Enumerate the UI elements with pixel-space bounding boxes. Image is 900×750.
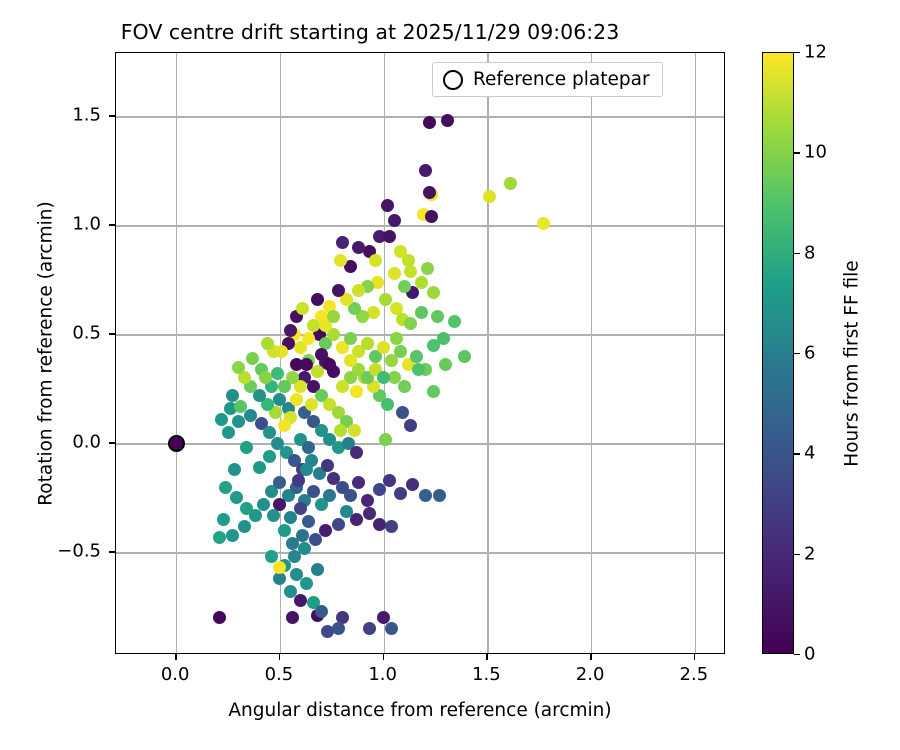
scatter-point <box>363 507 376 520</box>
scatter-point <box>257 498 270 511</box>
scatter-point <box>344 489 357 502</box>
colorbar-tick-6 <box>794 52 800 53</box>
scatter-point <box>334 254 347 267</box>
legend: Reference platepar <box>432 62 663 97</box>
scatter-point <box>352 284 365 297</box>
scatter-point <box>344 354 357 367</box>
scatter-point <box>415 306 428 319</box>
scatter-point <box>294 502 307 515</box>
scatter-point <box>311 293 324 306</box>
x-tick-5 <box>694 654 695 660</box>
scatter-point <box>363 622 376 635</box>
scatter-point <box>263 450 276 463</box>
y-tick-4 <box>109 115 115 116</box>
colorbar-tick-label-0: 0 <box>804 644 815 665</box>
scatter-point <box>292 474 305 487</box>
scatter-point <box>230 491 243 504</box>
scatter-point <box>404 317 417 330</box>
colorbar-tick-label-3: 6 <box>804 343 815 364</box>
scatter-point <box>377 371 390 384</box>
scatter-point <box>290 393 303 406</box>
legend-label: Reference platepar <box>473 69 650 90</box>
scatter-point <box>410 350 423 363</box>
scatter-point <box>431 310 444 323</box>
scatter-point <box>390 332 403 345</box>
scatter-point <box>398 280 411 293</box>
scatter-point <box>379 433 392 446</box>
scatter-point <box>305 398 318 411</box>
scatter-point <box>425 210 438 223</box>
colorbar-tick-label-1: 2 <box>804 543 815 564</box>
x-tick-1 <box>279 654 280 660</box>
x-tick-0 <box>175 654 176 660</box>
colorbar-tick-label-4: 8 <box>804 242 815 263</box>
scatter-point <box>483 190 496 203</box>
scatter-point <box>323 489 336 502</box>
y-tick-label-1: 0.0 <box>72 432 101 453</box>
y-tick-2 <box>109 333 115 334</box>
colorbar-tick-2 <box>794 453 800 454</box>
y-axis-label: Rotation from reference (arcmin) <box>36 49 57 659</box>
colorbar-tick-label-6: 12 <box>804 42 827 63</box>
scatter-point <box>419 489 432 502</box>
scatter-point <box>321 459 334 472</box>
scatter-point <box>437 332 450 345</box>
scatter-point <box>315 605 328 618</box>
scatter-point <box>406 478 419 491</box>
scatter-point <box>226 529 239 542</box>
scatter-point <box>350 446 363 459</box>
scatter-point <box>381 199 394 212</box>
scatter-point <box>311 365 324 378</box>
scatter-point <box>383 230 396 243</box>
scatter-point <box>278 419 291 432</box>
scatter-point <box>361 494 374 507</box>
scatter-point <box>309 533 322 546</box>
colorbar-tick-0 <box>794 654 800 655</box>
y-tick-3 <box>109 224 115 225</box>
scatter-point <box>427 286 440 299</box>
x-axis-label: Angular distance from reference (arcmin) <box>115 700 725 721</box>
scatter-point <box>404 265 417 278</box>
scatter-point <box>348 424 361 437</box>
scatter-point <box>504 177 517 190</box>
scatter-point <box>369 254 382 267</box>
scatter-point <box>249 509 262 522</box>
scatter-point <box>404 419 417 432</box>
scatter-point <box>439 358 452 371</box>
scatter-point <box>394 487 407 500</box>
scatter-point <box>215 413 228 426</box>
scatter-point <box>228 463 241 476</box>
colorbar-tick-3 <box>794 353 800 354</box>
x-tick-label-2: 1.0 <box>368 664 397 685</box>
scatter-point <box>273 476 286 489</box>
scatter-point <box>423 186 436 199</box>
y-tick-0 <box>109 551 115 552</box>
scatter-point <box>377 341 390 354</box>
y-tick-label-2: 0.5 <box>72 323 101 344</box>
scatter-point <box>217 513 230 526</box>
x-tick-4 <box>590 654 591 660</box>
scatter-point <box>222 426 235 439</box>
scatter-point <box>296 529 309 542</box>
scatter-point <box>240 441 253 454</box>
scatter-point <box>373 518 386 531</box>
scatter-point <box>302 332 315 345</box>
scatter-point <box>336 380 349 393</box>
scatter-point <box>340 505 353 518</box>
scatter-point <box>273 572 286 585</box>
x-tick-label-1: 0.5 <box>265 664 294 685</box>
plot-area <box>115 52 725 654</box>
scatter-point <box>232 415 245 428</box>
scatter-point <box>398 380 411 393</box>
scatter-point <box>332 518 345 531</box>
scatter-point <box>352 476 365 489</box>
scatter-point <box>441 114 454 127</box>
reference-platepar-marker-icon <box>443 70 463 90</box>
y-tick-label-3: 1.0 <box>72 214 101 235</box>
scatter-point <box>385 520 398 533</box>
scatter-point <box>300 577 313 590</box>
x-tick-label-4: 2.0 <box>576 664 605 685</box>
scatter-point <box>307 485 320 498</box>
colorbar-label: Hours from first FF file <box>842 63 863 665</box>
scatter-point <box>396 406 409 419</box>
scatter-point <box>388 214 401 227</box>
y-tick-1 <box>109 442 115 443</box>
scatter-point <box>385 622 398 635</box>
scatter-point <box>350 513 363 526</box>
scatter-point <box>253 461 266 474</box>
x-tick-2 <box>383 654 384 660</box>
scatter-point <box>284 324 297 337</box>
chart-root: FOV centre drift starting at 2025/11/29 … <box>0 0 900 750</box>
scatter-point <box>261 337 274 350</box>
y-tick-label-0: −0.5 <box>57 541 101 562</box>
scatter-point <box>300 463 313 476</box>
colorbar-tick-4 <box>794 253 800 254</box>
colorbar <box>762 52 794 654</box>
scatter-point <box>352 241 365 254</box>
scatter-point <box>302 515 315 528</box>
scatter-point <box>286 611 299 624</box>
colorbar-tick-label-2: 4 <box>804 443 815 464</box>
colorbar-tick-1 <box>794 554 800 555</box>
scatter-point <box>273 561 286 574</box>
scatter-point <box>427 385 440 398</box>
colorbar-tick-5 <box>794 152 800 153</box>
x-tick-label-3: 1.5 <box>472 664 501 685</box>
scatter-point <box>433 489 446 502</box>
scatter-point <box>294 594 307 607</box>
scatter-point <box>419 164 432 177</box>
scatter-point <box>421 262 434 275</box>
scatter-point <box>307 319 320 332</box>
scatter-point <box>332 622 345 635</box>
colorbar-gradient <box>762 52 794 654</box>
scatter-point <box>271 367 284 380</box>
y-tick-label-4: 1.5 <box>72 105 101 126</box>
scatter-point <box>388 267 401 280</box>
scatter-point <box>232 361 245 374</box>
scatter-point <box>327 310 340 323</box>
scatter-point <box>423 116 436 129</box>
scatter-point <box>361 337 374 350</box>
scatter-point <box>344 332 357 345</box>
scatter-point <box>448 315 461 328</box>
x-tick-label-0: 0.0 <box>161 664 190 685</box>
scatter-point <box>394 345 407 358</box>
scatter-point <box>267 509 280 522</box>
scatter-point <box>336 236 349 249</box>
x-tick-3 <box>486 654 487 660</box>
scatter-point <box>302 441 315 454</box>
scatter-point <box>311 563 324 576</box>
scatter-points-layer <box>116 53 724 653</box>
scatter-point <box>537 217 550 230</box>
scatter-point <box>238 520 251 533</box>
scatter-point <box>383 474 396 487</box>
scatter-point <box>278 524 291 537</box>
scatter-point <box>334 424 347 437</box>
scatter-point <box>458 350 471 363</box>
scatter-point <box>219 481 232 494</box>
scatter-point <box>296 302 309 315</box>
scatter-point <box>350 385 363 398</box>
colorbar-tick-label-5: 10 <box>804 142 827 163</box>
scatter-point <box>332 284 345 297</box>
scatter-point <box>213 611 226 624</box>
reference-platepar-point <box>168 435 185 452</box>
chart-title: FOV centre drift starting at 2025/11/29 … <box>0 20 740 44</box>
scatter-point <box>278 380 291 393</box>
scatter-point <box>213 531 226 544</box>
x-tick-label-5: 2.5 <box>680 664 709 685</box>
